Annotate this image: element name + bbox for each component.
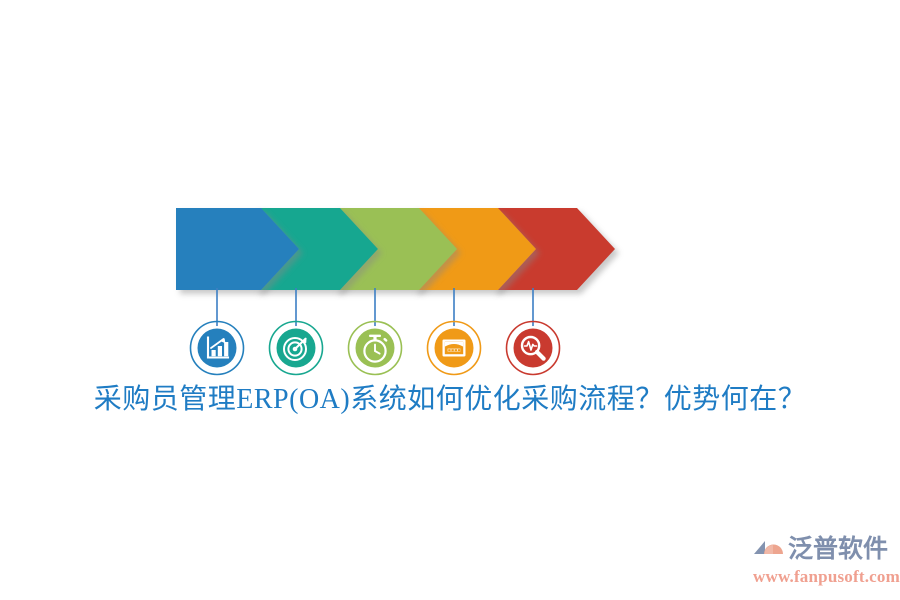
target-dartboard-icon (270, 322, 323, 375)
process-step-3[interactable] (347, 320, 403, 376)
fanpu-logo-icon (752, 534, 786, 564)
watermark-brand-row: 泛普软件 (752, 532, 898, 566)
page-title: 采购员管理ERP(OA)系统如何优化采购流程？优势何在？ (0, 380, 900, 420)
watermark-url-text: www.fanpusoft.com (753, 567, 898, 587)
bar-chart-growth-icon (191, 322, 244, 375)
card-banner-icon (428, 322, 481, 375)
page-canvas: 采购员管理ERP(OA)系统如何优化采购流程？优势何在？ 泛普软件 www.fa… (0, 0, 900, 600)
process-icon-row (175, 320, 615, 380)
process-step-1[interactable] (189, 320, 245, 376)
process-step-2[interactable] (268, 320, 324, 376)
process-step-5[interactable] (505, 320, 561, 376)
chevron-process-banner (175, 208, 615, 290)
watermark-brand-text: 泛普软件 (788, 534, 888, 564)
process-step-4[interactable] (426, 320, 482, 376)
watermark: 泛普软件 www.fanpusoft.com (752, 532, 898, 592)
stopwatch-icon (349, 322, 402, 375)
pulse-magnifier-icon (507, 322, 560, 375)
